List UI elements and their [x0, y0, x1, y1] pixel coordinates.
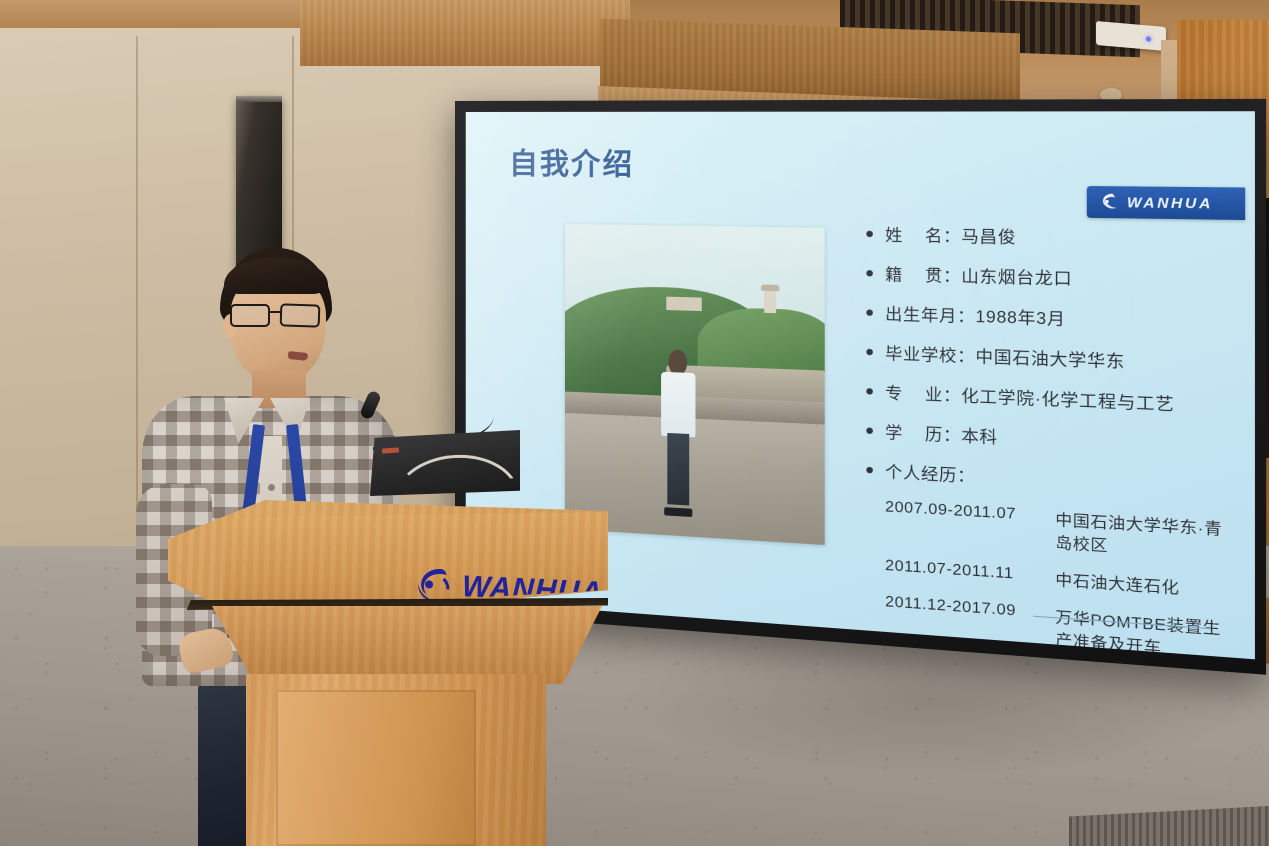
bullet-dot-icon	[866, 309, 873, 316]
podium-column-inset	[276, 690, 476, 846]
list-item: 毕业学校： 中国石油大学华东	[866, 340, 1233, 376]
list-item: 出生年月： 1988年3月	[866, 301, 1233, 335]
ceiling-panel-left	[0, 0, 330, 30]
wood-panel-upper	[300, 0, 630, 66]
slide-brand-word: WANHUA	[1127, 194, 1213, 212]
list-item: 个人经历：	[866, 458, 1233, 501]
slide-bullet-list: 姓 名： 马昌俊 籍 贯： 山东烟台龙口 出生年月： 1988年3月 毕业学校：	[866, 222, 1233, 659]
bullet-dot-icon	[866, 388, 873, 395]
list-item: 2007.09-2011.07 中国石油大学华东·青岛校区	[885, 499, 1233, 565]
list-item: 学 历： 本科	[866, 419, 1233, 460]
experience-list: 2007.09-2011.07 中国石油大学华东·青岛校区 2011.07-20…	[866, 498, 1233, 660]
photo-person	[659, 349, 698, 512]
bullet-dot-icon	[866, 231, 873, 237]
bullet-dot-icon	[866, 467, 873, 474]
wall-speaker	[236, 96, 282, 272]
bullet-dot-icon	[866, 270, 873, 277]
slide-brand-badge: WANHUA	[1087, 186, 1245, 220]
bullet-dot-icon	[866, 349, 873, 356]
podium: WANHUA	[168, 478, 608, 846]
glasses-icon	[228, 304, 332, 328]
list-item: 专 业： 化工学院·化学工程与工艺	[866, 380, 1233, 418]
list-item: 籍 贯： 山东烟台龙口	[866, 262, 1233, 294]
list-item: 姓 名： 马昌俊	[866, 222, 1233, 252]
room-scene: 自我介绍 WANHUA	[0, 0, 1269, 846]
list-item: 2011.07-2011.11 中石油大连石化	[885, 557, 1233, 603]
bullet-dot-icon	[866, 427, 873, 434]
podium-skirt	[212, 606, 602, 684]
laptop-logo	[382, 447, 399, 453]
slide-title: 自我介绍	[509, 140, 634, 184]
wanhua-swirl-icon	[1097, 192, 1119, 213]
podium-front-face: WANHUA	[222, 512, 608, 612]
